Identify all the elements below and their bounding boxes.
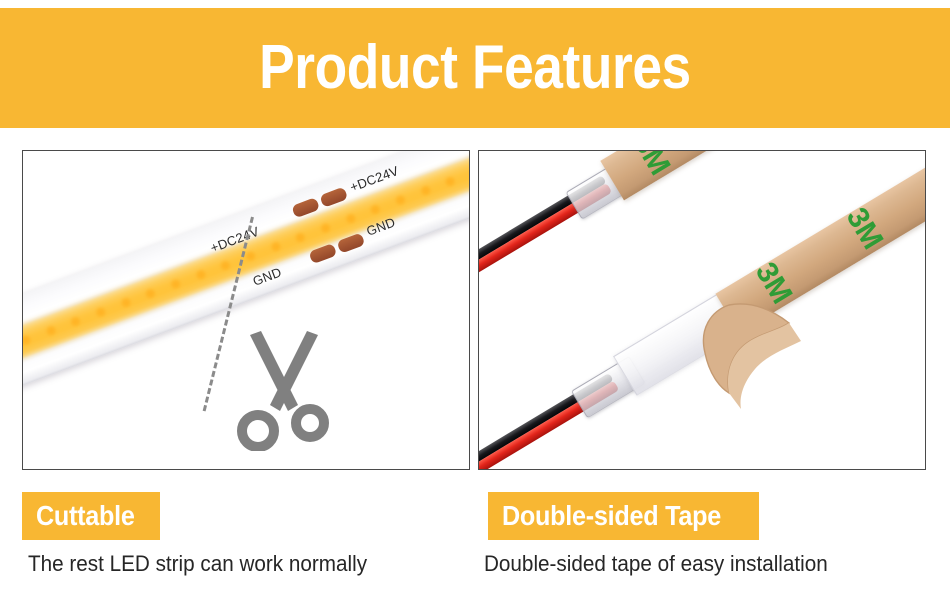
caption-double-sided-tape: Double-sided tape of easy installation <box>484 551 828 577</box>
led-dot <box>220 260 232 272</box>
led-dot <box>295 232 307 244</box>
led-dot <box>320 222 332 234</box>
scissors-icon <box>228 331 340 451</box>
led-dot <box>22 334 32 346</box>
led-dot <box>345 213 357 225</box>
feature-photo-cuttable: +DC24V +DC24V GND GND <box>22 150 470 470</box>
feature-photo-double-sided-tape: 3M 3M 3M 3M 3M 3M 3M <box>478 150 926 470</box>
badge-cuttable: Cuttable <box>22 492 160 540</box>
led-dot <box>70 316 82 328</box>
led-dot <box>45 325 57 337</box>
brand-mark-3m: 3M <box>628 150 675 180</box>
led-dot <box>420 185 432 197</box>
led-dot <box>195 269 207 281</box>
badge-cuttable-label: Cuttable <box>36 500 135 532</box>
page-title: Product Features <box>259 37 691 99</box>
led-dot <box>370 204 382 216</box>
led-dot <box>445 176 457 188</box>
product-features-page: Product Features <box>0 0 950 600</box>
led-dot <box>245 250 257 262</box>
led-dot <box>120 297 132 309</box>
brand-mark-3m: 3M <box>841 203 888 254</box>
led-dot <box>395 194 407 206</box>
caption-cuttable: The rest LED strip can work normally <box>28 551 367 577</box>
badge-double-sided-tape: Double-sided Tape <box>488 492 759 540</box>
peeled-tape-flap-icon <box>689 301 819 441</box>
led-dot <box>95 306 107 318</box>
adhesive-backing-upper: 3M 3M 3M 3M <box>600 150 926 200</box>
badge-double-sided-tape-label: Double-sided Tape <box>502 500 721 532</box>
led-dot <box>145 288 157 300</box>
led-dot <box>170 278 182 290</box>
header-banner: Product Features <box>0 8 950 128</box>
led-dot <box>270 241 282 253</box>
